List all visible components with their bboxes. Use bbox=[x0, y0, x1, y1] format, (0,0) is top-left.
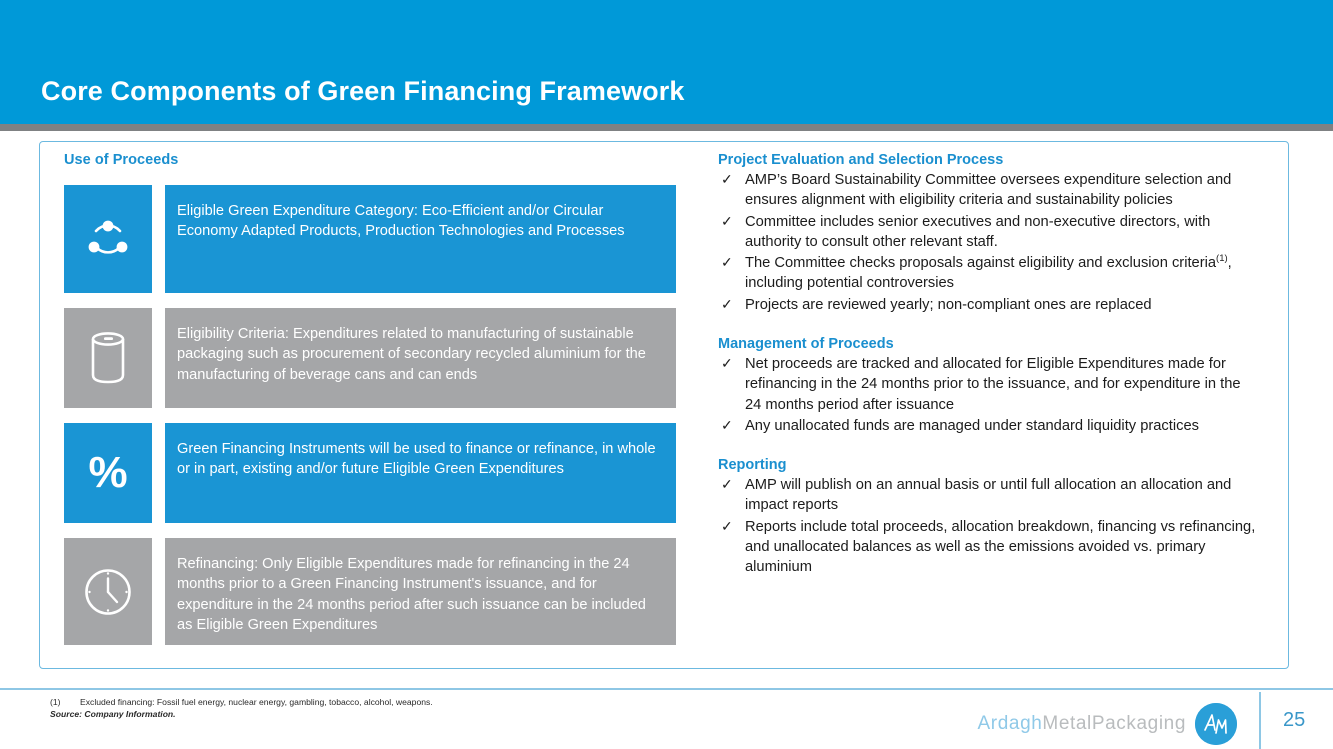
percent-glyph: % bbox=[88, 451, 127, 495]
percent-icon: % bbox=[64, 423, 152, 523]
footnote-ref: (1) bbox=[1216, 253, 1228, 264]
list-item: ✓ Any unallocated funds are managed unde… bbox=[718, 416, 1258, 436]
proceeds-item-3: % Green Financing Instruments will be us… bbox=[64, 423, 676, 523]
footer-divider-rule bbox=[0, 688, 1333, 690]
list-item-text: AMP’s Board Sustainability Committee ove… bbox=[745, 172, 1231, 208]
section-project-evaluation: Project Evaluation and Selection Process… bbox=[718, 152, 1258, 315]
proceeds-item-1-text: Eligible Green Expenditure Category: Eco… bbox=[165, 185, 676, 293]
page-title: Core Components of Green Financing Frame… bbox=[41, 76, 685, 107]
bullet-list-project-evaluation: ✓ AMP’s Board Sustainability Committee o… bbox=[718, 170, 1258, 315]
check-icon: ✓ bbox=[721, 295, 733, 314]
section-reporting: Reporting ✓ AMP will publish on an annua… bbox=[718, 457, 1258, 577]
use-of-proceeds-heading: Use of Proceeds bbox=[64, 152, 676, 168]
check-icon: ✓ bbox=[721, 416, 733, 435]
check-icon: ✓ bbox=[721, 253, 733, 272]
brand-name-secondary: MetalPackaging bbox=[1042, 713, 1186, 735]
footnote-text: Excluded financing: Fossil fuel energy, … bbox=[80, 697, 433, 707]
framework-details-column: Project Evaluation and Selection Process… bbox=[718, 152, 1258, 579]
list-item: ✓ Projects are reviewed yearly; non-comp… bbox=[718, 295, 1258, 315]
list-item: ✓ AMP will publish on an annual basis or… bbox=[718, 475, 1258, 516]
brand-logo: ArdaghMetalPackaging bbox=[978, 703, 1237, 745]
list-item-text: AMP will publish on an annual basis or u… bbox=[745, 477, 1231, 513]
page-number-divider bbox=[1259, 692, 1261, 749]
section-heading-management-of-proceeds: Management of Proceeds bbox=[718, 336, 1258, 352]
list-item-text: Any unallocated funds are managed under … bbox=[745, 418, 1199, 434]
proceeds-item-2-text: Eligibility Criteria: Expenditures relat… bbox=[165, 308, 676, 408]
footnote-line: (1)Excluded financing: Fossil fuel energ… bbox=[50, 696, 433, 708]
header-divider-rule bbox=[0, 124, 1333, 131]
footnote-marker: (1) bbox=[50, 696, 80, 708]
footnote: (1)Excluded financing: Fossil fuel energ… bbox=[50, 696, 433, 720]
list-item: ✓ AMP’s Board Sustainability Committee o… bbox=[718, 170, 1258, 211]
check-icon: ✓ bbox=[721, 212, 733, 231]
use-of-proceeds-column: Use of Proceeds Eligible Green Expenditu… bbox=[64, 152, 676, 660]
bullet-list-management-of-proceeds: ✓ Net proceeds are tracked and allocated… bbox=[718, 354, 1258, 436]
beverage-can-icon bbox=[64, 308, 152, 408]
list-item: ✓ Reports include total proceeds, alloca… bbox=[718, 517, 1258, 578]
source-line: Source: Company Information. bbox=[50, 708, 433, 720]
list-item: ✓ Net proceeds are tracked and allocated… bbox=[718, 354, 1258, 415]
list-item-text: Net proceeds are tracked and allocated f… bbox=[745, 356, 1241, 413]
list-item: ✓ The Committee checks proposals against… bbox=[718, 253, 1258, 294]
proceeds-item-3-text: Green Financing Instruments will be used… bbox=[165, 423, 676, 523]
proceeds-item-1: Eligible Green Expenditure Category: Eco… bbox=[64, 185, 676, 293]
check-icon: ✓ bbox=[721, 354, 733, 373]
circular-economy-icon bbox=[64, 185, 152, 293]
bullet-list-reporting: ✓ AMP will publish on an annual basis or… bbox=[718, 475, 1258, 577]
proceeds-item-4: Refinancing: Only Eligible Expenditures … bbox=[64, 538, 676, 645]
section-management-of-proceeds: Management of Proceeds ✓ Net proceeds ar… bbox=[718, 336, 1258, 436]
page-number: 25 bbox=[1283, 709, 1305, 732]
amp-badge-icon bbox=[1195, 703, 1237, 745]
list-item-text: The Committee checks proposals against e… bbox=[745, 255, 1232, 291]
check-icon: ✓ bbox=[721, 475, 733, 494]
clock-icon bbox=[64, 538, 152, 645]
list-item-text: Projects are reviewed yearly; non-compli… bbox=[745, 297, 1152, 313]
proceeds-item-2: Eligibility Criteria: Expenditures relat… bbox=[64, 308, 676, 408]
proceeds-item-4-text: Refinancing: Only Eligible Expenditures … bbox=[165, 538, 676, 645]
check-icon: ✓ bbox=[721, 170, 733, 189]
section-heading-reporting: Reporting bbox=[718, 457, 1258, 473]
check-icon: ✓ bbox=[721, 517, 733, 536]
brand-name-primary: Ardagh bbox=[978, 713, 1043, 735]
section-heading-project-evaluation: Project Evaluation and Selection Process bbox=[718, 152, 1258, 168]
list-item: ✓ Committee includes senior executives a… bbox=[718, 212, 1258, 253]
list-item-text: Committee includes senior executives and… bbox=[745, 214, 1210, 250]
list-item-text: Reports include total proceeds, allocati… bbox=[745, 519, 1255, 576]
